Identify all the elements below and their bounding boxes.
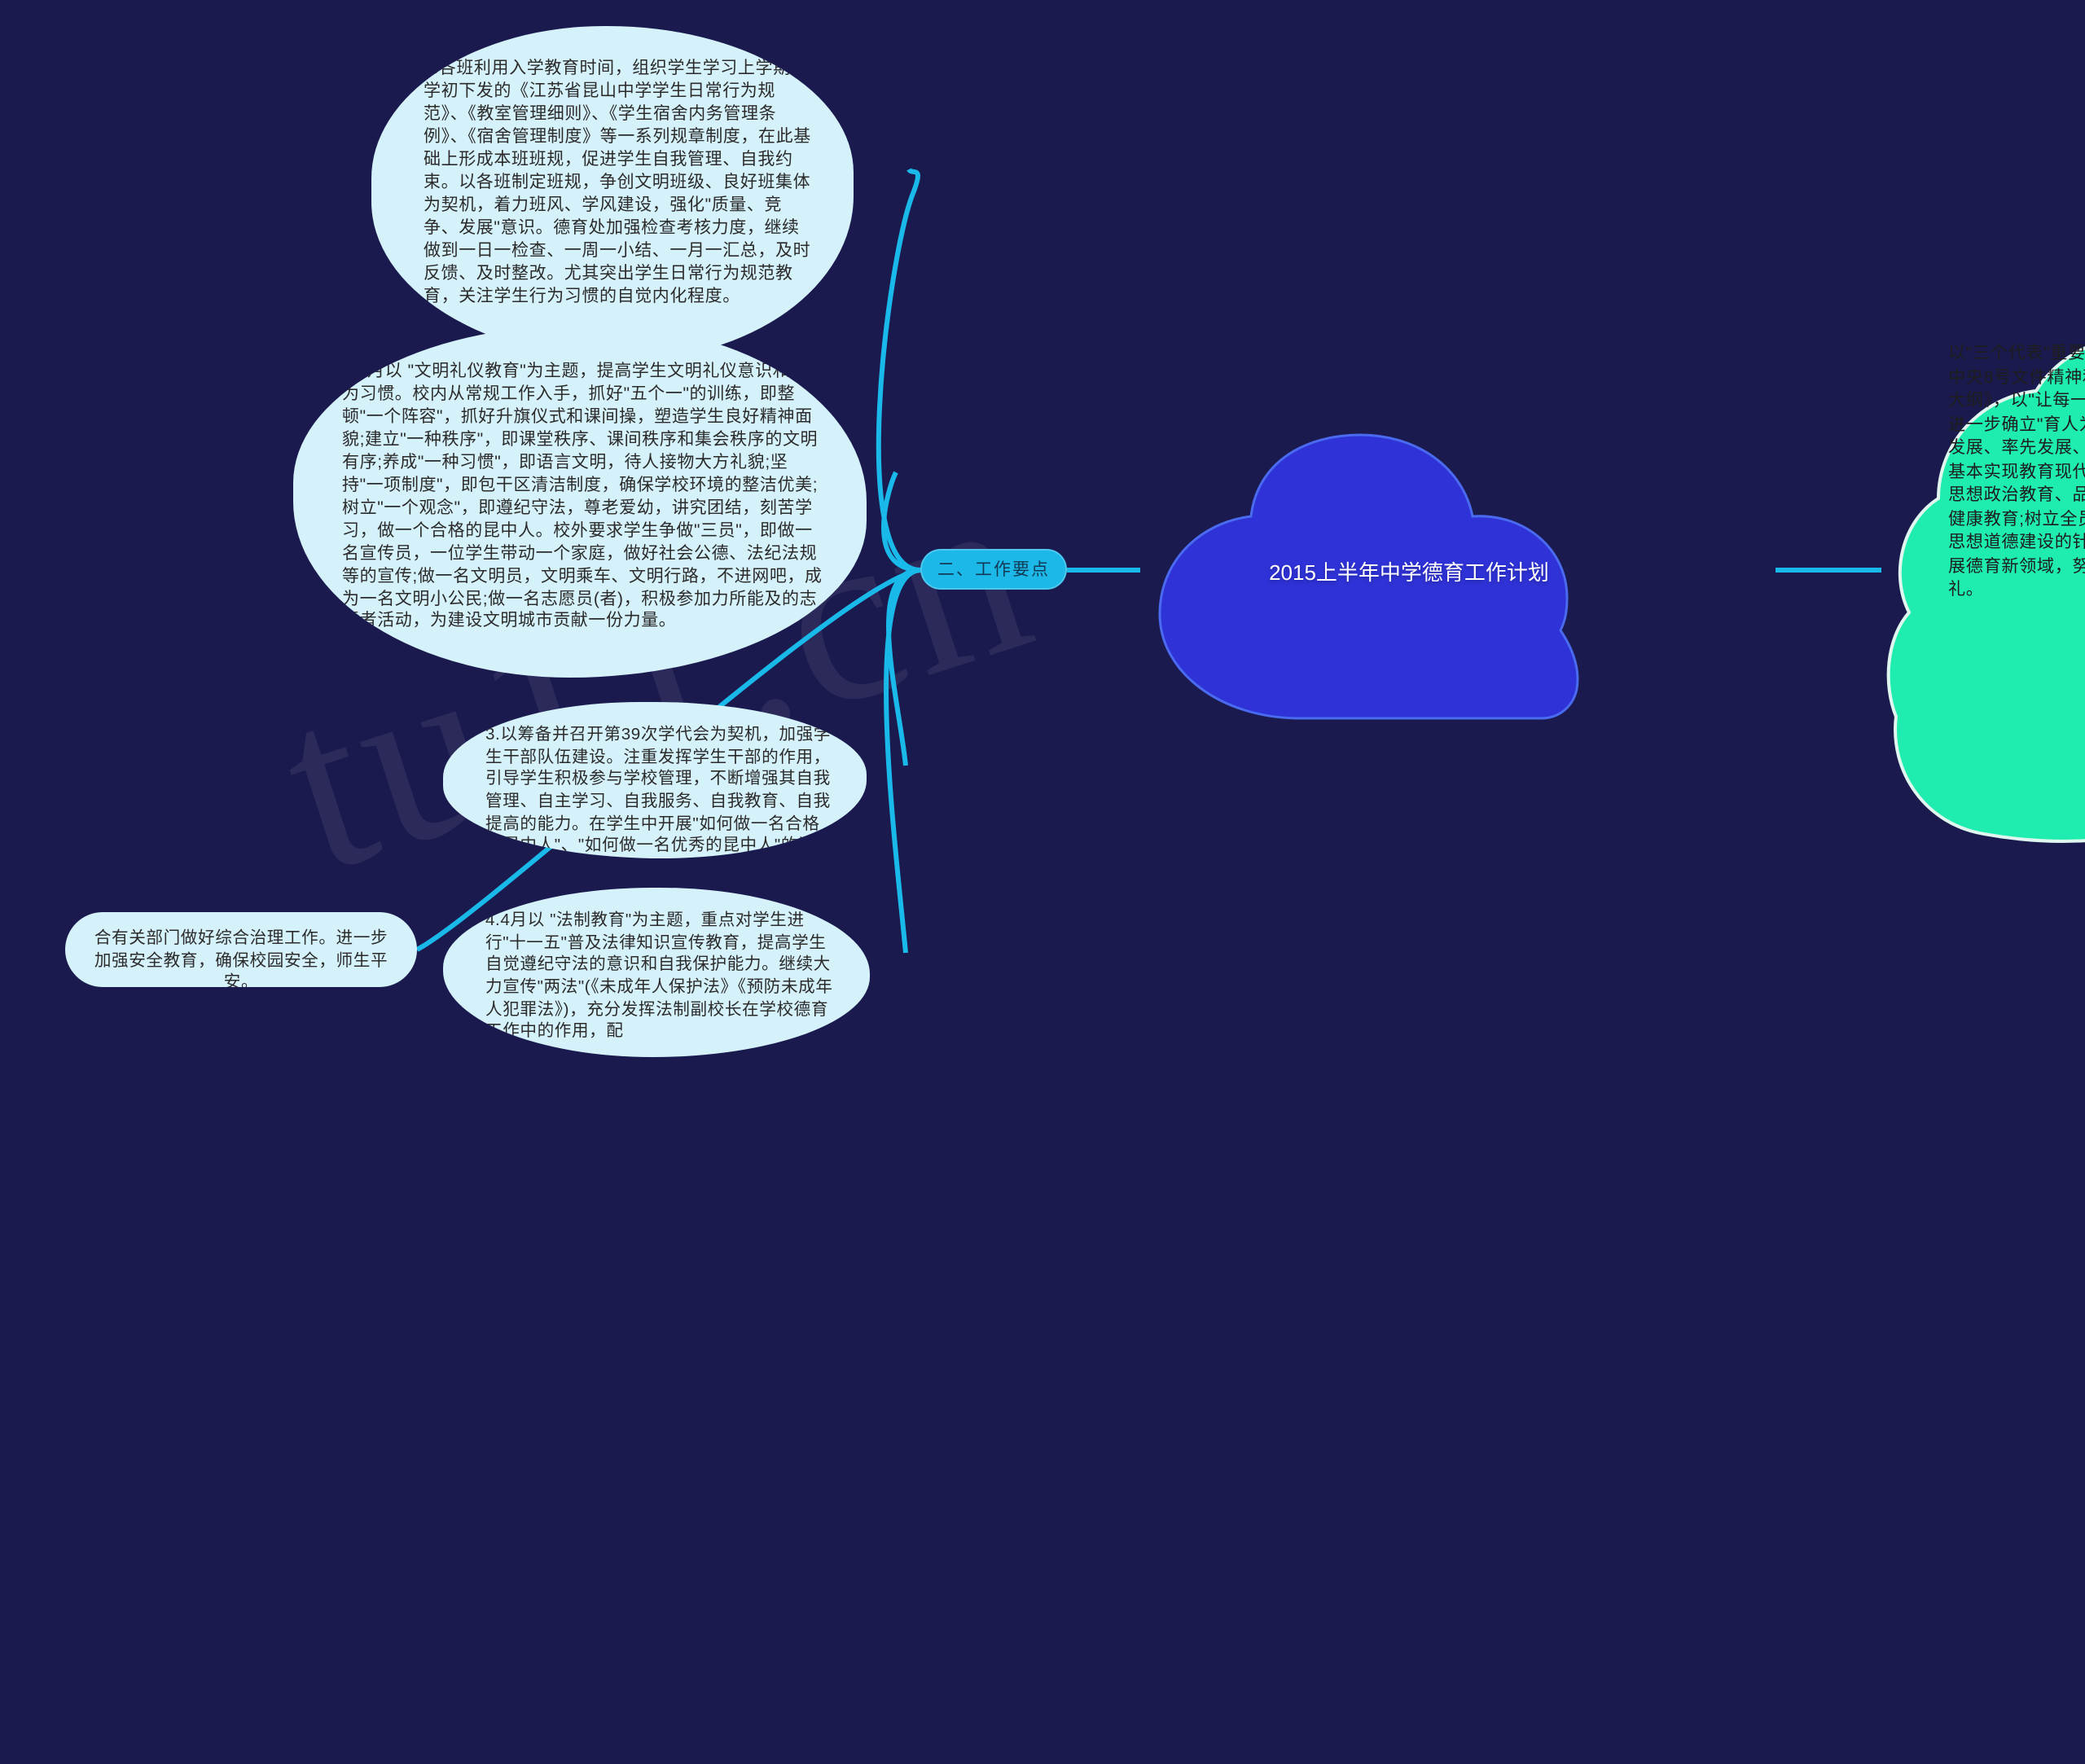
branch-item-5[interactable]: 合有关部门做好综合治理工作。进一步加强安全教育，确保校园安全，师生平安。 [65,912,417,987]
mindmap-canvas: tu11.cn 图 shu 2015上半年中学德育工作计划 二、工作要点 以"三… [0,0,2085,882]
center-title: 2015上半年中学德育工作计划 [1124,559,1694,590]
branch-item-4[interactable]: 4.4月以 "法制教育"为主题，重点对学生进行"十一五"普及法律知识宣传教育，提… [443,888,870,1057]
topic-pill-work-points[interactable]: 二、工作要点 [920,549,1067,590]
connector-lines [0,0,2085,1764]
right-branch-node[interactable]: 以"三个代表"重要思想和科学发展观为指导，全面贯彻中央8号文件精神和党的教育方针… [1876,326,2085,844]
right-branch-text: 以"三个代表"重要思想和科学发展观为指导，全面贯彻中央8号文件精神和党的教育方针… [1948,342,2085,831]
branch-item-3[interactable]: 3.以筹备并召开第39次学代会为契机，加强学生干部队伍建设。注重发挥学生干部的作… [443,702,867,858]
center-node[interactable]: 2015上半年中学德育工作计划 [1124,432,1694,725]
branch-item-2[interactable]: 2.3月以 "文明礼仪教育"为主题，提高学生文明礼仪意识和行为习惯。校内从常规工… [293,326,867,678]
branch-item-1[interactable]: 1.各班利用入学教育时间，组织学生学习上学期开学初下发的《江苏省昆山中学学生日常… [371,26,854,360]
